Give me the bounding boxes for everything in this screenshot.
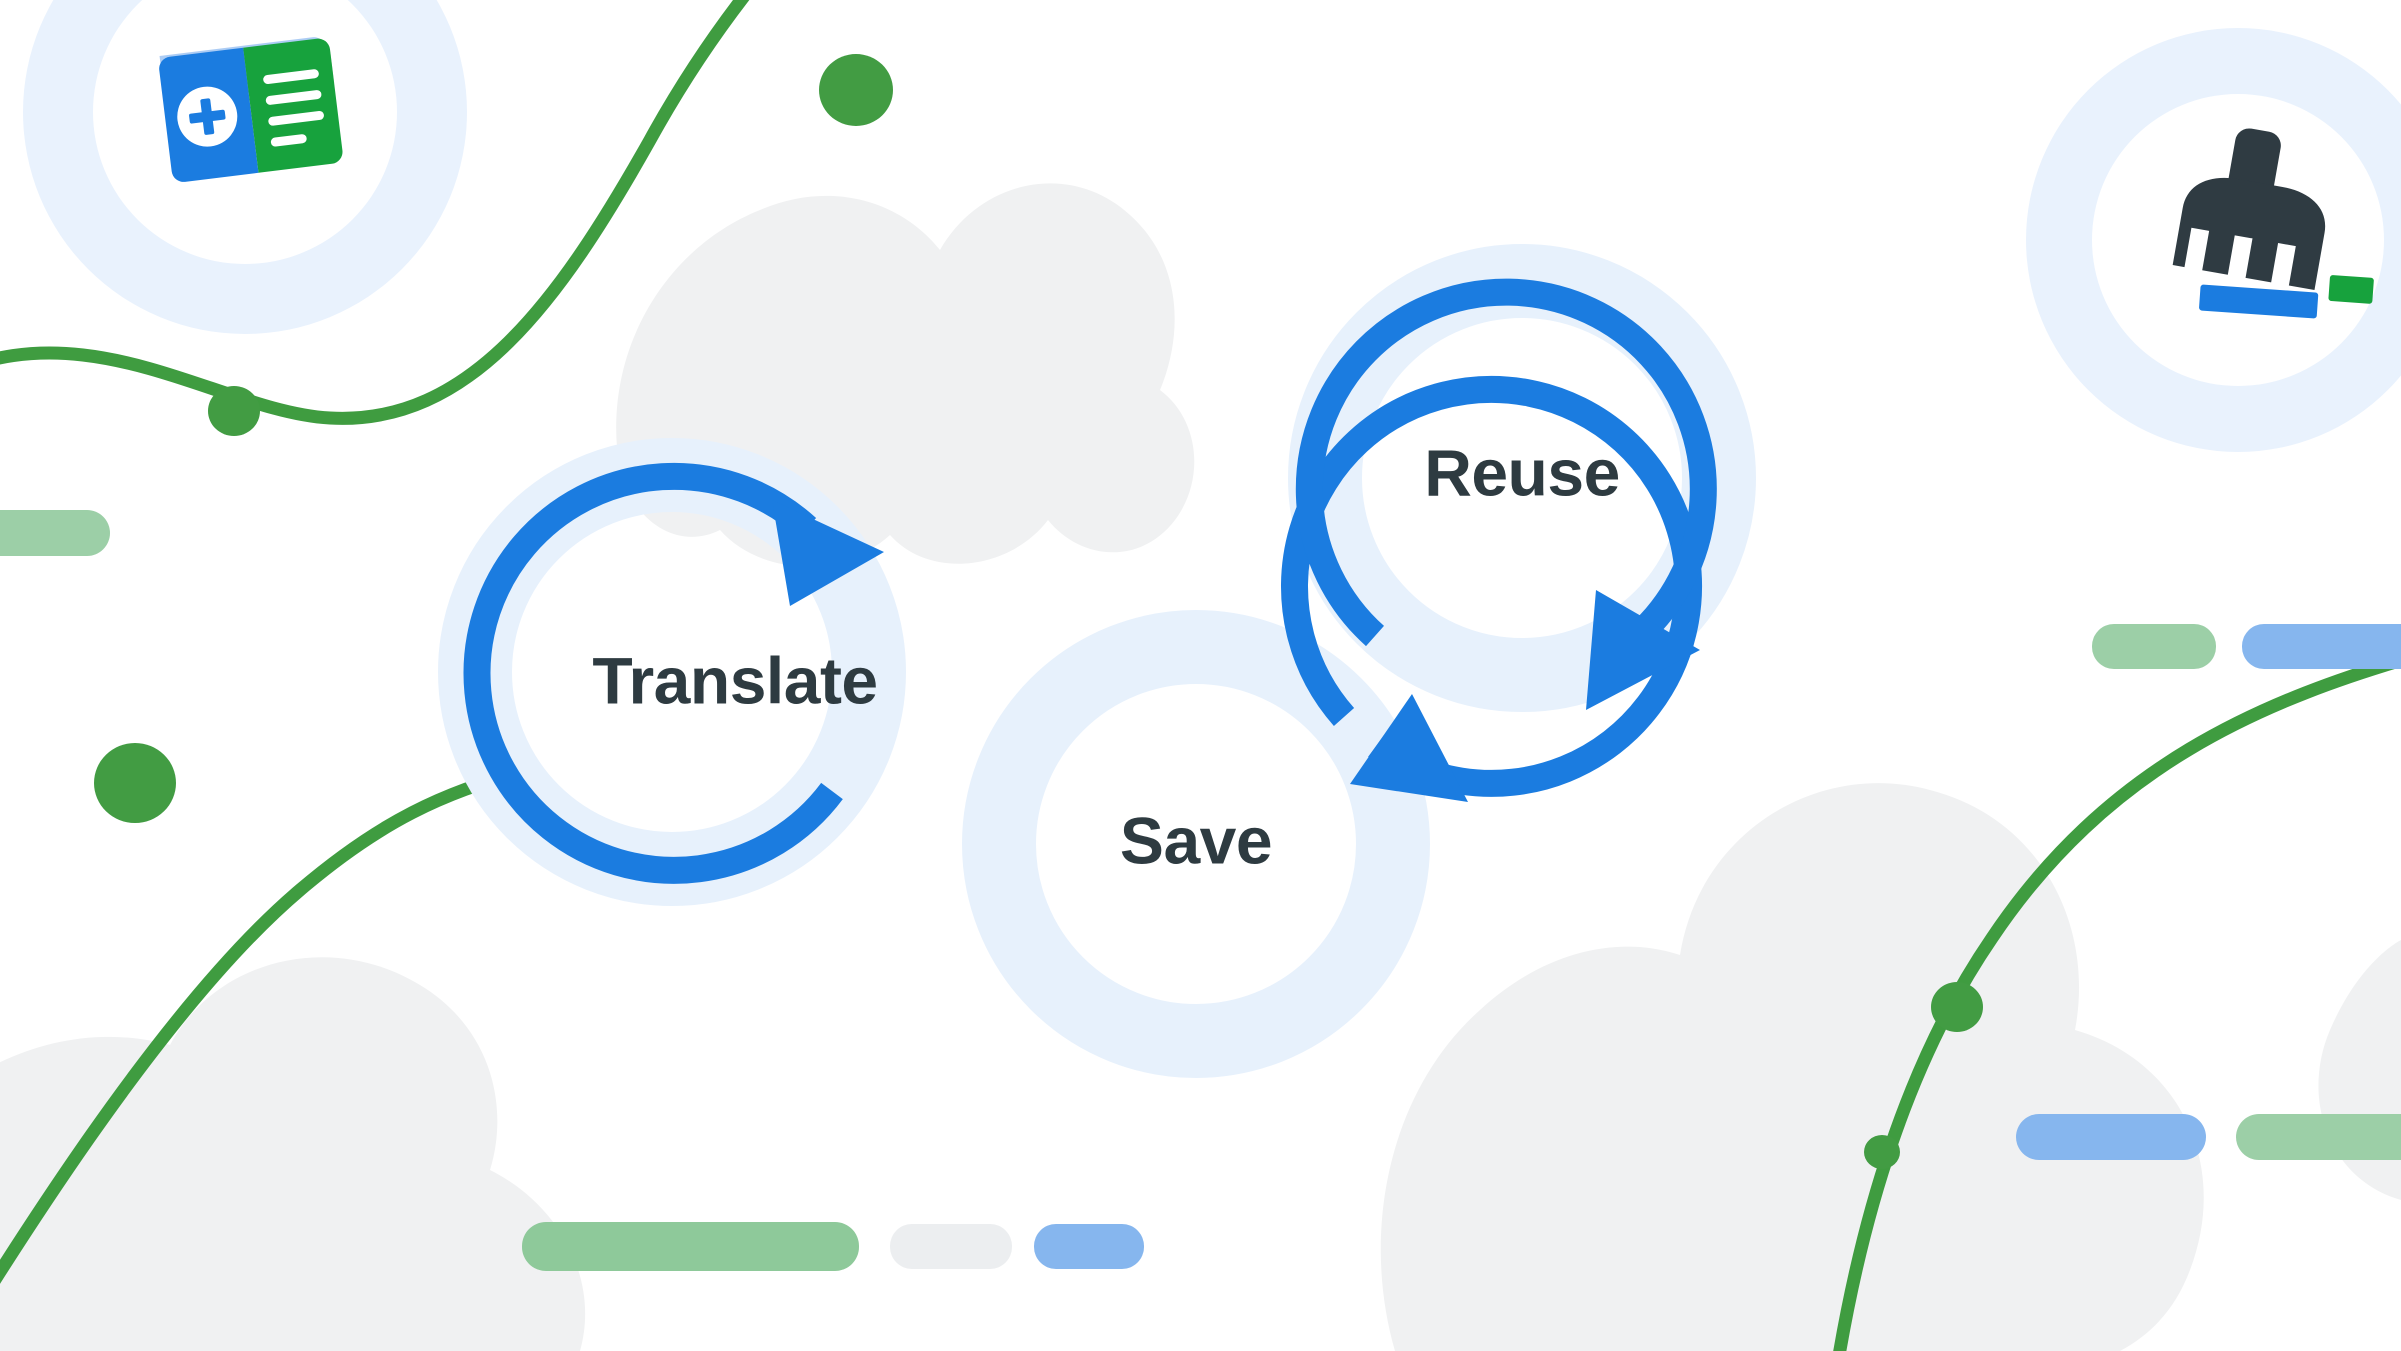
translate-document-icon: [158, 35, 344, 183]
pill-right-green-upper: [2092, 624, 2216, 669]
cycle-label-translate: Translate: [592, 643, 877, 717]
pill-bottom-blue: [1034, 1224, 1144, 1269]
green-dot-mid-left: [94, 743, 176, 823]
pill-bottom-gray: [890, 1224, 1012, 1269]
green-dot-right-lower: [1864, 1135, 1900, 1169]
pill-bottom-green-wide: [522, 1222, 859, 1271]
pill-bottomright-blue: [2016, 1114, 2206, 1160]
green-dot-right-upper: [1931, 982, 1983, 1032]
green-dot-top-center: [819, 54, 893, 126]
green-dot-top-left: [208, 386, 260, 436]
pill-right-blue-upper: [2242, 624, 2401, 669]
translate-save-reuse-diagram: Translate Save Reuse: [0, 0, 2401, 1351]
illustration-canvas: Translate Save Reuse: [0, 0, 2401, 1351]
cycle-label-reuse: Reuse: [1424, 435, 1620, 509]
cycle-label-save: Save: [1120, 803, 1272, 877]
pill-bottomright-green: [2236, 1114, 2401, 1160]
pill-left-green: [0, 510, 110, 556]
